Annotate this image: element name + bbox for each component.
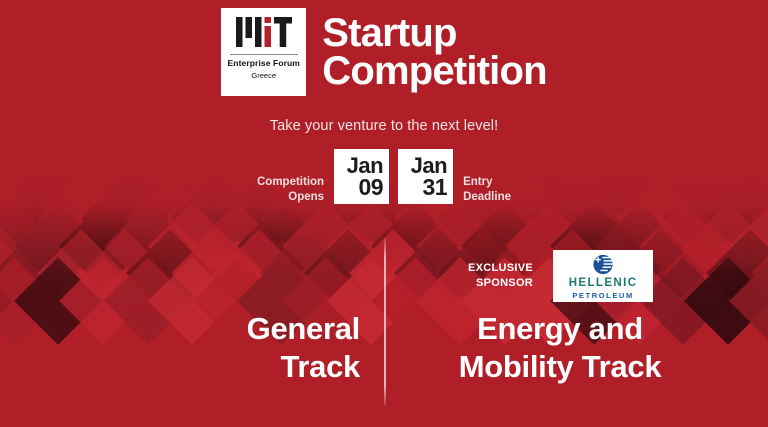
opens-day: 09 (358, 176, 383, 198)
hellenic-petroleum-globe-icon (591, 254, 615, 275)
general-track-line2: Track (60, 348, 360, 386)
logo-org-line: Enterprise Forum (228, 59, 300, 68)
mit-enterprise-forum-logo: Enterprise Forum Greece (221, 8, 306, 96)
entry-deadline-caption-line1: Entry (463, 175, 511, 189)
poster-header: Enterprise Forum Greece Startup Competit… (0, 8, 768, 96)
startup-competition-poster: Enterprise Forum Greece Startup Competit… (0, 0, 768, 427)
title-line-competition: Competition (322, 52, 547, 90)
exclusive-sponsor-label: EXCLUSIVE SPONSOR (468, 261, 533, 291)
hellenic-petroleum-logo: HELLENIC PETROLEUM (553, 250, 653, 302)
logo-chapter-line: Greece (251, 72, 276, 80)
exclusive-sponsor-block: EXCLUSIVE SPONSOR (468, 250, 653, 302)
general-track-line1: General (60, 310, 360, 348)
entry-deadline-caption: Entry Deadline (463, 149, 511, 204)
title-line-startup: Startup (322, 14, 547, 52)
competition-opens-caption: Competition Opens (257, 149, 324, 204)
track-divider (384, 238, 386, 406)
competition-opens-date-box: Jan 09 (334, 149, 389, 204)
sponsor-label-line2: SPONSOR (468, 276, 533, 291)
deadline-day: 31 (422, 176, 447, 198)
deadline-month: Jan (411, 155, 447, 176)
energy-mobility-track-line1: Energy and (410, 310, 710, 348)
energy-mobility-track-title: Energy and Mobility Track (410, 310, 710, 386)
competition-opens-caption-line1: Competition (257, 175, 324, 189)
hellenic-petroleum-name: HELLENIC (569, 278, 638, 290)
opens-month: Jan (347, 155, 383, 176)
competition-opens-caption-line2: Opens (257, 190, 324, 204)
poster-tagline: Take your venture to the next level! (0, 118, 768, 134)
mit-wordmark-icon (236, 17, 292, 47)
entry-deadline-caption-line2: Deadline (463, 190, 511, 204)
sponsor-label-line1: EXCLUSIVE (468, 261, 533, 276)
key-dates-row: Competition Opens Jan 09 Jan 31 Entry De… (0, 149, 768, 204)
poster-title: Startup Competition (322, 14, 547, 91)
hellenic-petroleum-subname: PETROLEUM (572, 292, 633, 300)
general-track-title: General Track (60, 310, 360, 386)
logo-divider-rule (230, 54, 298, 55)
entry-deadline-date-box: Jan 31 (398, 149, 453, 204)
energy-mobility-track-line2: Mobility Track (410, 348, 710, 386)
